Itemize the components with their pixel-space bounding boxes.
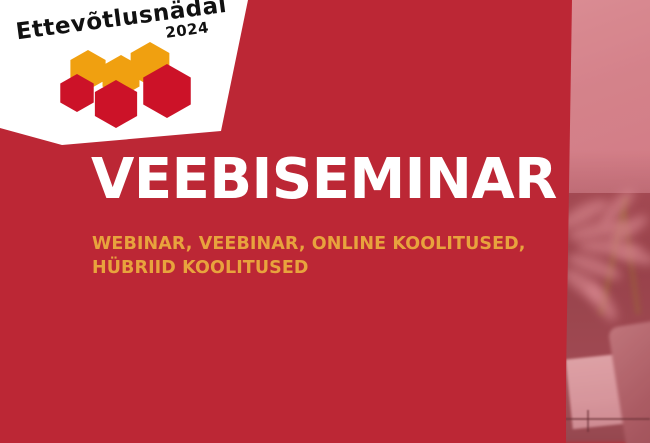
subtitle-line-1: WEBINAR, VEEBINAR, ONLINE KOOLITUSED, bbox=[92, 232, 572, 256]
photo-layers bbox=[563, 0, 650, 443]
interior-photo bbox=[563, 0, 650, 443]
subtitle: WEBINAR, VEEBINAR, ONLINE KOOLITUSED, HÜ… bbox=[92, 232, 572, 280]
logo-banner: Ettevõtlusnädal 2024 bbox=[0, 0, 256, 150]
photo-red-overlay bbox=[563, 0, 650, 443]
page-title: VEEBISEMINAR bbox=[91, 151, 557, 209]
promo-banner: Ettevõtlusnädal 2024 VEEBISEMINAR WEBINA… bbox=[0, 0, 650, 443]
subtitle-line-2: HÜBRIID KOOLITUSED bbox=[92, 256, 572, 280]
